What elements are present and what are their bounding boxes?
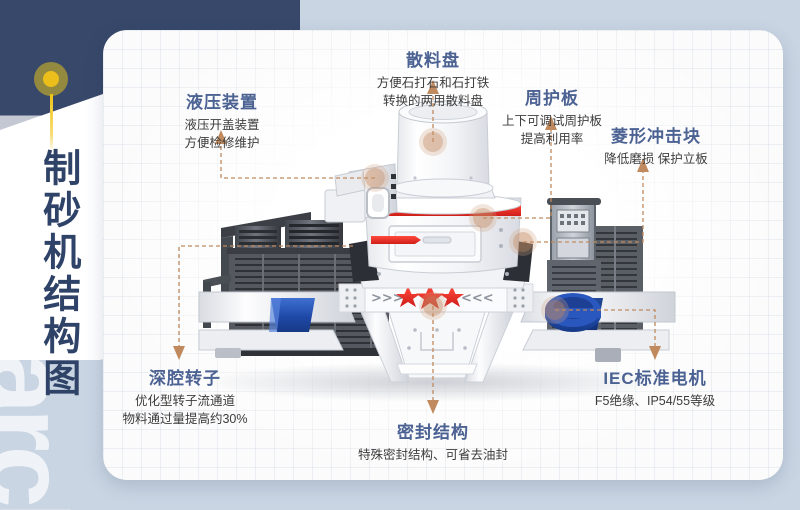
pin-halo-icon [34, 62, 68, 96]
callout-title: 密封结构 [323, 418, 543, 443]
poster-stage: Research 制砂机结构图 [0, 0, 800, 510]
hotspot-impact-block[interactable] [513, 232, 533, 252]
callout-deep-cavity-rotor[interactable]: 深腔转子 优化型转子流通道 物料通过量提高约30% [103, 364, 273, 428]
hotspot-hydraulic-device[interactable] [365, 168, 385, 188]
callout-title: 深腔转子 [103, 364, 273, 389]
callout-line: 方便检修维护 [143, 134, 301, 152]
hotspot-iec-motor[interactable] [545, 300, 565, 320]
hotspot-sealing-structure[interactable] [423, 296, 443, 316]
callout-title: 菱形冲击块 [563, 122, 749, 147]
callout-title: 液压装置 [143, 88, 301, 113]
callout-title: 周护板 [465, 84, 639, 109]
callout-line: F5绝缘、IP54/55等级 [555, 392, 755, 410]
pin-marker [34, 62, 68, 96]
callout-line: 降低磨损 保护立板 [563, 150, 749, 168]
callout-hydraulic-device[interactable]: 液压装置 液压开盖装置 方便检修维护 [143, 88, 301, 152]
callout-iec-standard-motor[interactable]: IEC标准电机 F5绝缘、IP54/55等级 [555, 364, 755, 410]
page-title: 制砂机结构图 [38, 148, 77, 400]
callout-line: 特殊密封结构、可省去油封 [323, 446, 543, 464]
callout-line: 物料通过量提高约30% [103, 410, 273, 428]
hotspot-distribution-plate[interactable] [423, 132, 443, 152]
callout-title: IEC标准电机 [555, 364, 755, 389]
callout-line: 液压开盖装置 [143, 116, 301, 134]
pin-dot-icon [43, 71, 59, 87]
hotspot-guard-plate[interactable] [473, 208, 493, 228]
callout-line: 优化型转子流通道 [103, 392, 273, 410]
callout-diamond-impact-block[interactable]: 菱形冲击块 降低磨损 保护立板 [563, 122, 749, 168]
pin-stem-icon [50, 94, 53, 152]
callout-sealing-structure[interactable]: 密封结构 特殊密封结构、可省去油封 [323, 418, 543, 464]
diagram-card: >>> <<< [103, 30, 783, 480]
callout-title: 散料盘 [335, 46, 531, 71]
